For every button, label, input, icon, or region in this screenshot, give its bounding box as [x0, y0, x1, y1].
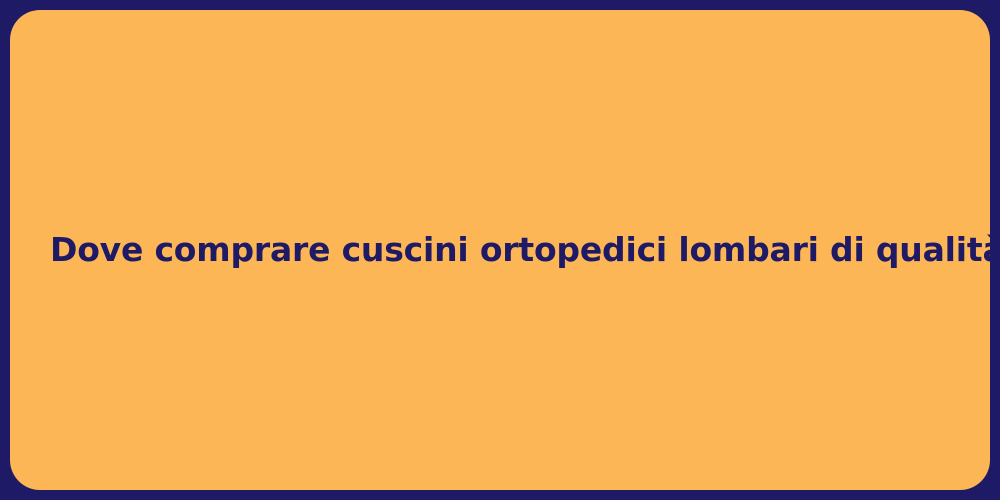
- page-title: Dove comprare cuscini ortopedici lombari…: [10, 229, 990, 270]
- page-background: Dove comprare cuscini ortopedici lombari…: [0, 0, 1000, 500]
- content-card: Dove comprare cuscini ortopedici lombari…: [10, 10, 990, 490]
